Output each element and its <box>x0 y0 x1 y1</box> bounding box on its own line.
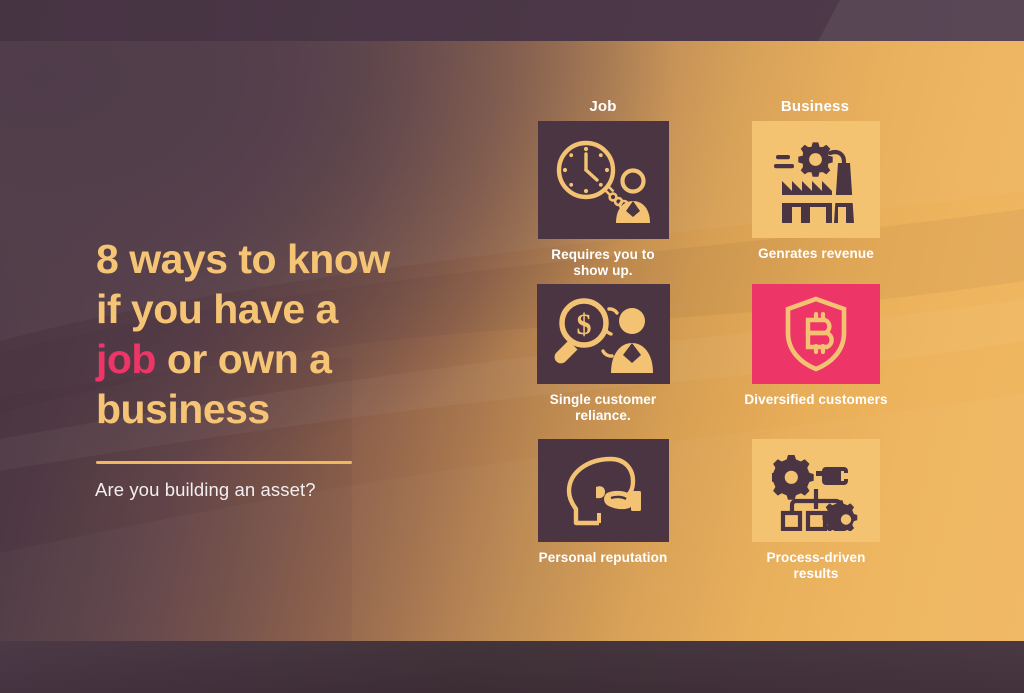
icon-card-job-2[interactable]: $ <box>537 284 670 384</box>
head-hand-whisper-icon <box>555 451 651 531</box>
comparison-grid: Job Business <box>0 41 1024 641</box>
caption-job-2-line-2: reliance. <box>520 408 686 424</box>
caption-business-3: Process-driven results <box>733 550 899 582</box>
caption-job-1-line-1: Requires you to <box>520 247 686 263</box>
gears-flowchart-icon <box>772 451 860 531</box>
bottom-bar <box>0 641 1024 693</box>
caption-job-2-line-1: Single customer <box>520 392 686 408</box>
background-gradient: 8 ways to know if you have a job or own … <box>0 41 1024 641</box>
shield-bitcoin-icon <box>783 295 849 373</box>
grid-cell-business-3[interactable]: Process-driven results <box>733 439 899 582</box>
icon-card-business-2[interactable] <box>752 284 880 384</box>
top-bar <box>0 0 1024 41</box>
caption-job-3-line-1: Personal reputation <box>508 550 698 566</box>
icon-card-job-3[interactable] <box>538 439 669 542</box>
caption-business-2-line-1: Diversified customers <box>721 392 911 408</box>
bottom-bar-sheen <box>0 641 1024 693</box>
clock-handcuff-person-icon <box>552 137 654 223</box>
caption-job-2: Single customer reliance. <box>520 392 686 424</box>
grid-cell-job-2[interactable]: $ Singl <box>520 284 686 424</box>
grid-cell-business-2[interactable]: Diversified customers <box>733 284 899 408</box>
caption-business-3-line-2: results <box>733 566 899 582</box>
icon-card-business-3[interactable] <box>752 439 880 542</box>
factory-gear-icon <box>768 137 864 223</box>
caption-job-1: Requires you to show up. <box>520 247 686 279</box>
caption-job-1-line-2: show up. <box>520 263 686 279</box>
grid-cell-job-3[interactable]: Personal reputation <box>520 439 686 566</box>
magnifier-dollar-person-icon: $ <box>551 295 655 373</box>
caption-business-2: Diversified customers <box>721 392 911 408</box>
caption-business-1-line-1: Genrates revenue <box>721 246 911 262</box>
column-header-business: Business <box>735 98 895 115</box>
column-header-job: Job <box>523 98 683 115</box>
icon-card-business-1[interactable] <box>752 121 880 238</box>
caption-business-1: Genrates revenue <box>721 246 911 262</box>
icon-card-job-1[interactable] <box>538 121 669 239</box>
caption-business-3-line-1: Process-driven <box>733 550 899 566</box>
slide-canvas: 8 ways to know if you have a job or own … <box>0 0 1024 693</box>
grid-cell-job-1[interactable]: Requires you to show up. <box>520 121 686 279</box>
top-bar-wedge <box>797 0 1024 41</box>
svg-text:$: $ <box>577 308 592 341</box>
grid-cell-business-1[interactable]: Genrates revenue <box>733 121 899 262</box>
caption-job-3: Personal reputation <box>508 550 698 566</box>
